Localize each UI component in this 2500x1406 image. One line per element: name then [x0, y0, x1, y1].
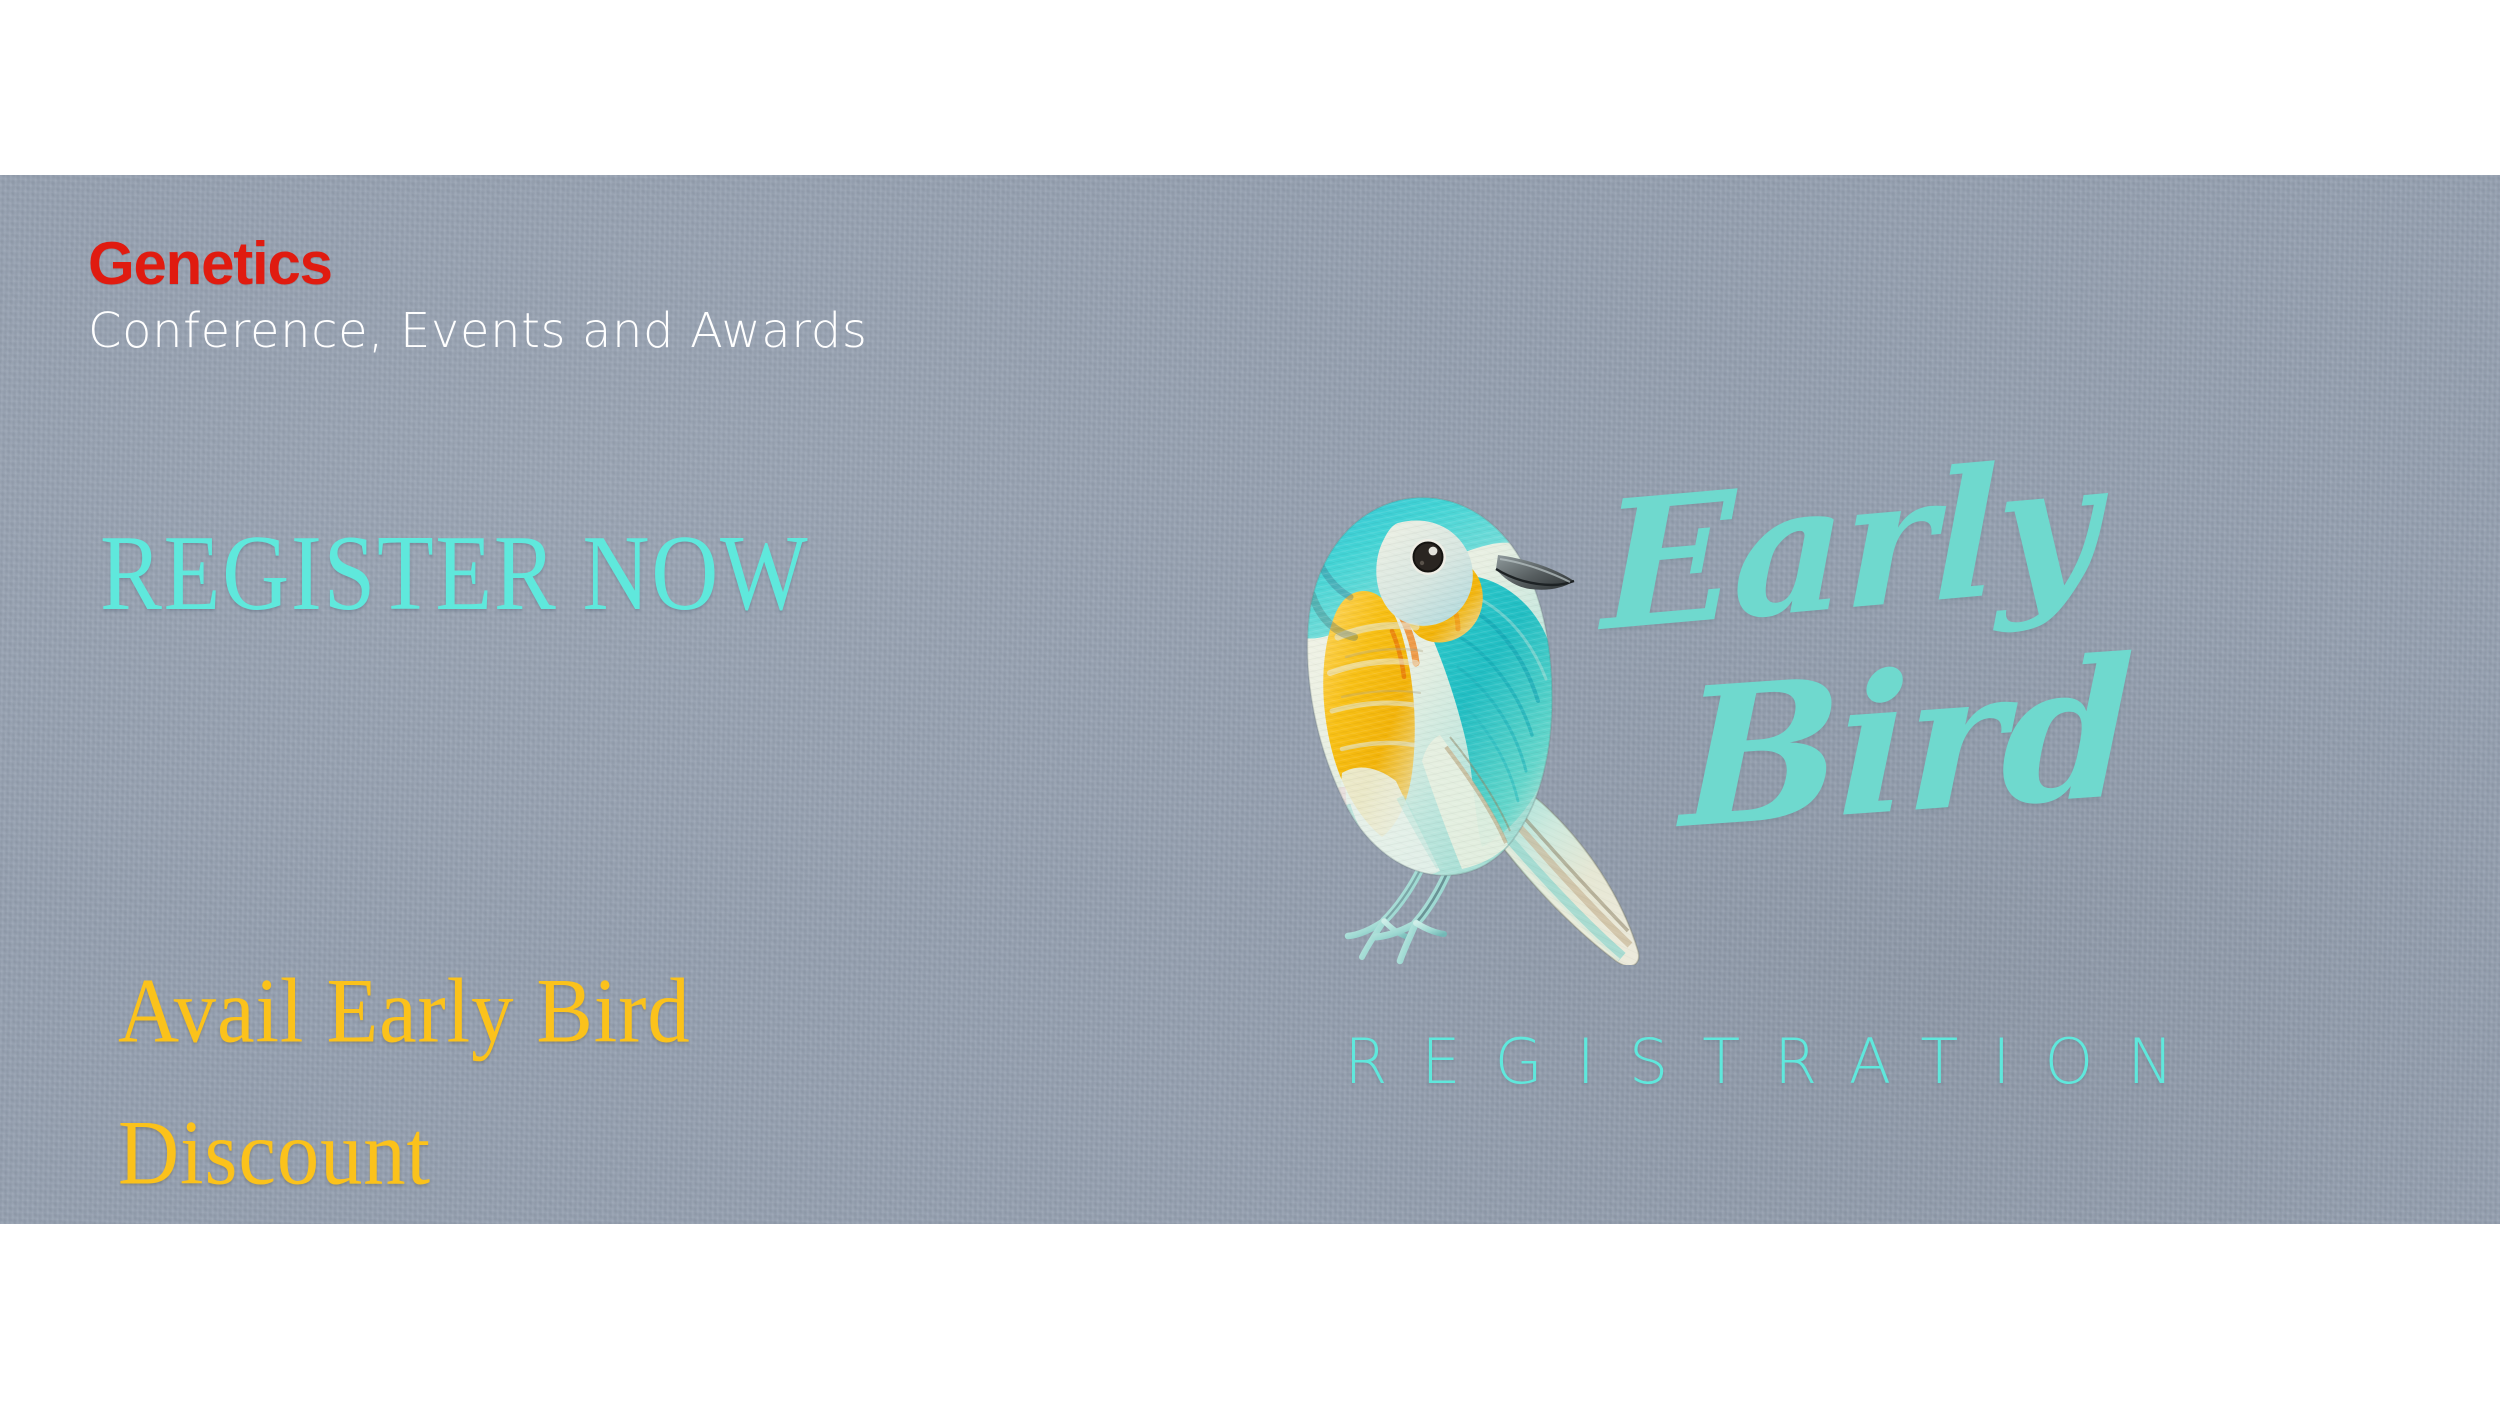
discount-line-1: Avail Early Bird — [118, 965, 691, 1057]
discount-line-2: Discount — [118, 1107, 691, 1199]
register-now-heading[interactable]: REGISTER NOW — [100, 520, 809, 628]
brand-subtitle: Conference, Events and Awards — [88, 306, 867, 356]
discount-block: Avail Early Bird Discount — [118, 965, 740, 1199]
brand-block: Genetics Conference, Events and Awards — [88, 233, 867, 357]
promo-banner: Genetics Conference, Events and Awards R… — [0, 175, 2500, 1224]
registration-subline: REGISTRATION — [1254, 1025, 2264, 1098]
brand-title: Genetics — [88, 233, 867, 294]
banner-page: Genetics Conference, Events and Awards R… — [0, 0, 2500, 1406]
bird-script-word: Bird — [1680, 633, 2132, 855]
early-bird-logo-lockup: Early Bird REGISTRATION — [1250, 325, 2270, 1125]
